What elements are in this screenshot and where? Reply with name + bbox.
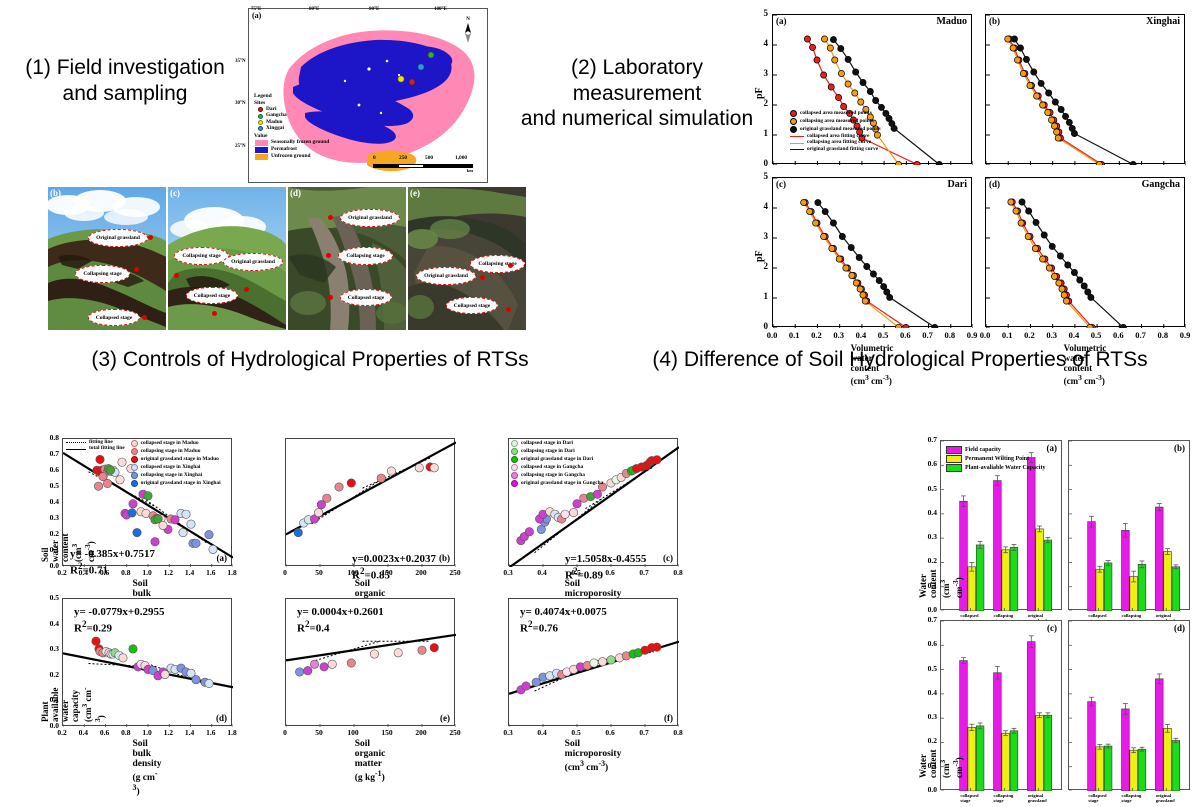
scatter-ytick: 0.0 — [50, 561, 59, 570]
equation-text: y= 0.0004x+0.2601 — [297, 606, 384, 619]
scatter-point — [430, 643, 438, 651]
scatter-xtick: 1.2 — [164, 728, 173, 737]
pf-panel-tag: (b) — [989, 16, 1000, 26]
value-swatch-seasonal — [255, 140, 268, 146]
scatter-xtick: 1.6 — [206, 568, 215, 577]
pf-ylabel: pF — [754, 87, 765, 99]
pf-xtick: 0.3 — [1046, 330, 1057, 340]
pf-data-point — [1023, 56, 1029, 62]
scatter-legend-label: collapsing stage in Gangcha — [521, 473, 585, 478]
pf-data-point — [932, 324, 938, 328]
bar-rect — [1164, 552, 1172, 612]
scatter-legend-dot — [131, 472, 138, 479]
scatter-legend-dot — [131, 440, 138, 447]
bar-rect — [1010, 547, 1018, 611]
photo-b-annot-2: Collapsed stage — [88, 309, 140, 326]
scatter-legend-item: original grassland stage in Dari — [511, 456, 603, 463]
bar-category-label: collapsing stage — [1122, 793, 1142, 803]
scatter-xtick: 0.4 — [537, 568, 546, 577]
scalebar-seg-2 — [398, 164, 425, 168]
bar-ytick: 0.7 — [928, 615, 937, 624]
scatter-xtick: 1.8 — [227, 568, 236, 577]
bar-category-label: collapsing stage — [994, 793, 1014, 803]
scatter-point — [415, 464, 423, 472]
pf-legend-item: original grassland measured points — [790, 126, 881, 133]
pf-data-point — [849, 272, 855, 278]
pf-legend-item: collapsing area fitting curve — [790, 140, 881, 145]
photo-e-annot-1: Collapsing stage — [470, 255, 525, 273]
bar-rect — [1044, 540, 1052, 611]
pf-ytick: 2 — [764, 98, 769, 108]
pf-data-point — [1049, 243, 1055, 249]
pf-data-point — [895, 324, 901, 328]
scalebar-seg-1 — [373, 164, 398, 168]
map-legend-value-permafrost: Permafrost — [255, 147, 329, 153]
scalebar-unit: km — [373, 168, 473, 173]
pf-data-point — [895, 161, 901, 165]
pf-data-point — [1014, 57, 1020, 63]
scatter-point — [328, 660, 336, 668]
scatter-legend-label: original grassland stage in Xinghai — [141, 481, 221, 486]
photo-d-annot-1: Collapsing stage — [338, 247, 393, 265]
scatter-point — [171, 516, 179, 524]
bar-ylabel: Water content (cm3 cm-3) — [918, 750, 964, 779]
pf-data-point — [1058, 106, 1064, 112]
site-dot-maduo — [258, 120, 263, 125]
photo-b-annot-2-label: Collapsed stage — [96, 315, 133, 321]
pf-legend-item: original grassland fitting curve — [790, 147, 881, 152]
r-squared-text: R2=0.71 — [70, 561, 155, 578]
scatter-a-legend: fitting linetotal fitting linecollapsed … — [66, 440, 221, 488]
pf-data-point — [822, 209, 828, 215]
pf-data-point — [1026, 208, 1032, 214]
photo-b-annot-0-label: Original grassland — [96, 235, 140, 241]
bar-rect — [968, 727, 976, 791]
pf-data-point — [1052, 99, 1058, 105]
photo-c-point-0 — [174, 273, 179, 278]
photo-e[interactable]: (e) Original grassland Collapsing stage … — [408, 187, 526, 330]
pf-data-point — [821, 233, 827, 239]
pf-data-point — [821, 72, 827, 78]
scatter-legend-item: original grassland stage in Gangcha — [511, 480, 603, 487]
bar-rect — [968, 567, 976, 611]
pf-data-point — [1008, 199, 1014, 205]
bar-ytick: 0.3 — [928, 712, 937, 721]
scatter-point — [573, 500, 581, 508]
pf-data-point — [1096, 161, 1102, 165]
scatter-legend-label: collapsing stage in Maduo — [141, 449, 201, 454]
pf-data-point — [1061, 292, 1067, 298]
scatter-c-legend: collapsed stage in Daricollapsing stage … — [511, 440, 603, 488]
map-legend: Legend Sites Dari Gangcha Maduo Xinggai … — [254, 93, 329, 161]
pf-xtick: 0.6 — [900, 330, 911, 340]
pf-xtick: 0.1 — [789, 330, 800, 340]
scatter-xtick: 0.8 — [673, 728, 682, 737]
pf-legend-line — [790, 143, 804, 144]
scatter-xtick: 0.4 — [537, 728, 546, 737]
pf-xtick: 0.9 — [967, 330, 978, 340]
section-1-title-line2: and sampling — [0, 81, 250, 107]
bar-rect — [1130, 750, 1138, 791]
scatter-point — [418, 646, 426, 654]
bar-ytick: 0.4 — [928, 688, 937, 697]
scatter-xtick: 150 — [381, 728, 392, 737]
pf-legend-dot — [790, 126, 797, 133]
value-label-seasonal: Seasonally frozen ground — [271, 140, 329, 145]
map-panel-tag: (a) — [252, 11, 261, 20]
bar-panel-b[interactable]: (b) — [1068, 440, 1190, 610]
scatter-xtick: 0.6 — [100, 728, 109, 737]
pf-data-point — [903, 324, 909, 328]
bar-rect — [1138, 749, 1146, 791]
scatter-legend-dot — [511, 456, 518, 463]
photo-b[interactable]: (b) Original grassland Collapsing stage … — [48, 187, 166, 330]
bar-rect — [1096, 569, 1104, 611]
scalebar-tick-3: 1,000 — [455, 155, 467, 161]
map-lat-tick-2: 25°N — [235, 144, 246, 149]
pf-ytick: 1 — [764, 128, 769, 138]
scatter-legend-dot — [511, 480, 518, 487]
scatter-xtick: 1.0 — [142, 728, 151, 737]
scatter-point — [522, 682, 530, 690]
scatter-legend-dot — [131, 448, 138, 455]
site-dot-gangcha — [258, 114, 263, 119]
pf-data-point — [815, 200, 821, 206]
scatter-legend-item: collapsed stage in Maduo — [131, 440, 221, 447]
bar-legend-item: Permanent Wilting Point — [946, 455, 1045, 463]
section-2-title: (2) Laboratory measurement and numerical… — [512, 55, 762, 132]
pf-data-point — [845, 81, 851, 87]
pf-xtick: 0.5 — [1091, 330, 1102, 340]
bar-legend-label: Permanent Wilting Point — [965, 456, 1029, 462]
scatter-xlabel: Soil microporosity (cm3 cm-3) — [565, 739, 622, 773]
section-3-title: (3) Controls of Hydrological Properties … — [20, 347, 600, 373]
scatter-xtick: 50 — [315, 728, 323, 737]
scatter-a-legend-lines: fitting linetotal fitting line — [66, 440, 125, 488]
map-legend-site-xinggai: Xinggai — [258, 126, 329, 131]
scatter-point — [598, 658, 606, 666]
site-label-gangcha: Gangcha — [266, 113, 287, 118]
pf-panel-gangcha[interactable]: (d)Gangcha — [985, 177, 1185, 327]
scatter-point — [92, 637, 100, 645]
scatter-panel-b[interactable]: (b) — [285, 438, 455, 566]
bar-panel-d[interactable]: (d) — [1068, 620, 1190, 790]
pf-ytick: 5 — [764, 171, 769, 181]
r-squared-text: R2=0.76 — [520, 619, 607, 636]
bar-rect — [1044, 715, 1052, 791]
pf-legend-label: collapsing area measured points — [800, 119, 874, 124]
photo-e-point-0 — [480, 275, 485, 280]
scatter-panel-tag: (c) — [663, 553, 673, 563]
scatter-legend-dot — [511, 448, 518, 455]
map-legend-site-gangcha: Gangcha — [258, 113, 329, 118]
pf-data-point — [1040, 256, 1046, 262]
bar-category-label: original grassland — [1028, 793, 1047, 803]
scatter-point — [129, 645, 137, 653]
scatter-point — [430, 464, 438, 472]
bar-category-label: collapsed stage — [960, 793, 978, 803]
pf-xtick: 0.2 — [1024, 330, 1035, 340]
scatter-legend-dot — [511, 464, 518, 471]
pf-data-point — [1033, 219, 1039, 225]
scatter-point — [133, 528, 141, 536]
pf-data-point — [936, 161, 942, 165]
pf-data-point — [1065, 262, 1071, 268]
photo-b-annot-1: Collapsing stage — [75, 265, 130, 283]
pf-data-point — [835, 94, 841, 100]
scatter-point — [347, 659, 355, 667]
scatter-legend-label: original grassland stage in Maduo — [141, 457, 219, 462]
scatter-legend-label: collapsing stage in Xinghai — [141, 473, 203, 478]
scatter-xtick: 50 — [315, 568, 323, 577]
pf-panel-xinghai[interactable]: (b)Xinghai — [985, 14, 1185, 164]
pf-xtick: 0.0 — [767, 330, 778, 340]
pf-data-point — [829, 245, 835, 251]
scatter-legend-item: original grassland stage in Maduo — [131, 456, 221, 463]
photo-d-point-2 — [328, 295, 333, 300]
photo-e-annot-2: Collapsed stage — [446, 297, 498, 314]
bar-ylabel: Water content (cm3 cm-3) — [918, 570, 964, 599]
photo-d[interactable]: (d) Original grassland Collapsing stage … — [288, 187, 406, 330]
pf-xtick: 0.6 — [1113, 330, 1124, 340]
scatter-legend-dot — [131, 464, 138, 471]
pf-data-point — [876, 278, 882, 284]
scatter-xtick: 1.2 — [164, 568, 173, 577]
pf-curve — [1014, 39, 1133, 164]
r-squared-text: R2=0.4 — [297, 619, 384, 636]
scatter-legend-label: collapsing stage in Dari — [521, 449, 575, 454]
scatter-point — [569, 508, 577, 516]
scatter-legend-label: original grassland stage in Gangcha — [521, 481, 603, 486]
scatter-point — [192, 675, 200, 683]
pf-xtick: 0.7 — [922, 330, 933, 340]
pf-legend-item: collapsing area measured points — [790, 118, 881, 125]
scatter-xtick: 0.4 — [79, 728, 88, 737]
photo-c[interactable]: (c) Collapsing stage Original grassland … — [168, 187, 286, 330]
pf-data-point — [838, 70, 844, 76]
scatter-legend-item: collapsing stage in Gangcha — [511, 472, 603, 479]
scatter-point — [128, 509, 136, 517]
bar-ytick: 0.0 — [928, 605, 937, 614]
photo-c-point-1 — [244, 287, 249, 292]
bar-ytick: 0.0 — [928, 785, 937, 794]
bar-rect — [1172, 567, 1180, 611]
pf-panel-dari[interactable]: (c)Dari — [772, 177, 972, 327]
photo-e-annot-0: Original grassland — [416, 267, 476, 285]
photo-c-tag: (c) — [170, 188, 180, 198]
scatter-legend-label: original grassland stage in Dari — [521, 457, 593, 462]
pf-ytick: 5 — [764, 8, 769, 18]
pf-data-point — [848, 245, 854, 251]
pf-xtick: 0.3 — [833, 330, 844, 340]
bar-svg — [1069, 621, 1191, 791]
bar-rect — [994, 673, 1002, 791]
pf-data-point — [1055, 135, 1061, 141]
pf-data-point — [870, 271, 876, 277]
scalebar-tick-1: 250 — [399, 155, 407, 161]
pf-ytick: 2 — [764, 261, 769, 271]
pf-data-point — [860, 292, 866, 298]
scatter-legend-item: collapsed stage in Xinghai — [131, 464, 221, 471]
pf-data-point — [814, 57, 820, 63]
map-legend-value-seasonal: Seasonally frozen ground — [255, 140, 329, 146]
bar-legend-item: Plant-avaliable Water Capacity — [946, 464, 1045, 472]
map-lat-tick-0: 35°N — [235, 59, 246, 64]
photo-c-annot-2-label: Collapsed stage — [194, 293, 231, 299]
scatter-point — [304, 666, 312, 674]
bar-panel-tag: (a) — [1047, 443, 1058, 453]
photo-e-tag: (e) — [410, 188, 420, 198]
bar-rect — [1155, 679, 1163, 791]
scatter-xtick: 1.4 — [185, 728, 194, 737]
regression-equation: y= 0.4074x+0.0075R2=0.76 — [520, 606, 607, 636]
bar-rect — [1122, 709, 1130, 791]
photo-e-point-2 — [506, 307, 511, 312]
pf-data-point — [1051, 123, 1057, 129]
pf-panel-title: Gangcha — [1142, 179, 1180, 190]
scatter-ytick: 0.5 — [50, 481, 59, 490]
pf-legend-label: collapsing area fitting curve — [807, 140, 871, 145]
pf-data-point — [873, 97, 879, 103]
map-lon-tick-3: 100°E — [434, 7, 447, 12]
scatter-point — [590, 659, 598, 667]
scatter-point — [205, 530, 213, 538]
bar-rect — [1088, 702, 1096, 791]
scatter-point — [377, 474, 385, 482]
bar-svg — [1069, 441, 1191, 611]
value-label-unfrozen: Unfrozen ground — [271, 154, 311, 159]
regression-equation: y= 0.0004x+0.2601R2=0.4 — [297, 606, 384, 636]
pf-data-point — [807, 209, 813, 215]
pf-panel-tag: (d) — [989, 179, 1000, 189]
pf-data-point — [1081, 283, 1087, 289]
site-dot-dari — [258, 107, 263, 112]
bar-rect — [1138, 564, 1146, 611]
scatter-legend-item: original grassland stage in Xinghai — [131, 480, 221, 487]
scatter-legend-dot — [511, 440, 518, 447]
pf-data-point — [813, 220, 819, 226]
pf-xtick: 0.8 — [944, 330, 955, 340]
scatter-panel-tag: (f) — [664, 713, 673, 723]
bar-rect — [1104, 746, 1112, 791]
scatter-ytick: 0.6 — [50, 465, 59, 474]
pf-data-point — [1019, 199, 1025, 205]
bar-panel-tag: (b) — [1174, 443, 1185, 453]
pf-data-point — [860, 79, 866, 85]
bar-rect — [976, 726, 984, 791]
bar-rect — [1096, 747, 1104, 791]
scalebar-tick-2: 500 — [425, 155, 433, 161]
bar-rect — [994, 481, 1002, 611]
pf-xtick: 0.1 — [1002, 330, 1013, 340]
bar-rect — [1155, 507, 1163, 611]
equation-text: y=0.0023x+0.2037 — [352, 553, 436, 566]
pf-ytick: 0 — [764, 321, 769, 331]
scalebar-seg-3 — [424, 164, 473, 168]
pf-data-point — [832, 57, 838, 63]
scatter-point — [205, 679, 213, 687]
scatter-xtick: 1.8 — [227, 728, 236, 737]
photo-d-annot-2-label: Collapsed stage — [348, 295, 385, 301]
pf-data-point — [1054, 129, 1060, 135]
pf-data-point — [1071, 269, 1077, 275]
scatter-point — [192, 539, 200, 547]
pf-data-point — [1038, 80, 1044, 86]
scatter-xlabel: Soil organic matter (g kg-1) — [355, 739, 386, 783]
pf-xtick: 0.0 — [980, 330, 991, 340]
map-lon-tick-1: 80°E — [309, 7, 319, 12]
scatter-xtick: 0.3 — [503, 728, 512, 737]
scatter-point — [295, 668, 303, 676]
photo-d-annot-0: Original grassland — [340, 209, 400, 227]
bar-ytick: 0.6 — [928, 639, 937, 648]
scatter-legend-item: total fitting line — [66, 446, 125, 451]
pf-ylabel: pF — [754, 250, 765, 262]
pf-data-point — [801, 200, 807, 206]
scatter-point — [561, 510, 569, 518]
pf-legend-dot — [790, 110, 797, 117]
photo-d-annot-1-label: Collapsing stage — [346, 253, 384, 259]
pf-ytick: 0 — [764, 158, 769, 168]
pf-svg-gangcha — [986, 178, 1186, 328]
scatter-point — [347, 479, 355, 487]
pf-legend-label: collapsed area measured points — [800, 111, 872, 116]
scatter-legend-line — [66, 449, 86, 450]
pf-data-point — [1051, 273, 1057, 279]
r-squared-text: R2=0.89 — [565, 566, 646, 583]
scalebar-tick-0: 0 — [373, 155, 376, 161]
scatter-point — [607, 656, 615, 664]
pf-data-point — [1025, 233, 1031, 239]
scatter-point — [294, 528, 302, 536]
bar-legend-item: Field capacity — [946, 446, 1045, 454]
pf-panel-tag: (a) — [776, 16, 787, 26]
pf-data-point — [1087, 324, 1093, 328]
pf-xlabel: Volumetric water content (cm3 cm-3) — [851, 343, 894, 386]
r-squared-text: R2=0.85 — [352, 566, 436, 583]
scatter-xtick: 250 — [449, 728, 460, 737]
scatter-point — [129, 500, 137, 508]
map-panel[interactable]: N (a) 75°E 80°E 90°E 100°E 35°N 30°N 25°… — [248, 8, 488, 183]
pf-data-point — [1057, 253, 1063, 259]
photo-d-annot-0-label: Original grassland — [348, 215, 392, 221]
pf-data-point — [1062, 113, 1068, 119]
pf-data-point — [1056, 280, 1062, 286]
scatter-panel-tag: (e) — [440, 713, 450, 723]
pf-xtick: 0.4 — [856, 330, 867, 340]
scatter-point — [394, 649, 402, 657]
scatter-legend-item: collapsing stage in Xinghai — [131, 472, 221, 479]
bar-legend-swatch — [946, 455, 962, 463]
regression-equation: y= -0.385x+0.7517R2=0.71 — [70, 548, 155, 578]
scatter-panel-tag: (d) — [216, 713, 227, 723]
regression-equation: y= -0.0779x+0.2955R2=0.29 — [74, 606, 164, 636]
scatter-point — [187, 520, 195, 528]
scatter-legend-item: collapsed stage in Dari — [511, 440, 603, 447]
scatter-xtick: 0.7 — [639, 728, 648, 737]
scatter-point — [370, 650, 378, 658]
scatter-ytick: 0.5 — [50, 593, 59, 602]
pf-ytick: 3 — [764, 231, 769, 241]
section-2-title-line1: (2) Laboratory measurement — [512, 55, 762, 106]
scatter-legend-item: collapsing stage in Maduo — [131, 448, 221, 455]
pf-data-point — [853, 280, 859, 286]
photo-d-point-1 — [326, 253, 331, 258]
photo-c-annot-1-label: Original grassland — [231, 259, 275, 265]
pf-data-point — [853, 69, 859, 75]
map-lon-tick-2: 90°E — [369, 7, 379, 12]
pf-data-point — [1034, 93, 1040, 99]
